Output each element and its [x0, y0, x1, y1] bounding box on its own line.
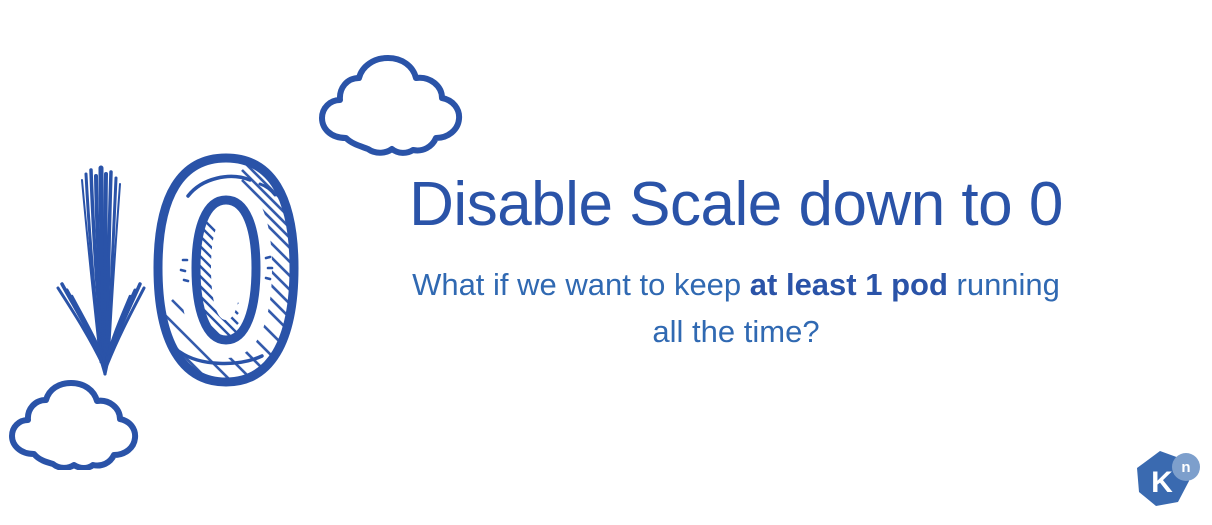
page-title: Disable Scale down to 0 [366, 172, 1106, 239]
subtitle: What if we want to keep at least 1 pod r… [366, 239, 1106, 355]
subtitle-emphasis: at least 1 pod [750, 267, 948, 302]
arrow-down-icon [52, 162, 156, 378]
subtitle-line1-before: What if we want to keep [412, 267, 750, 302]
subtitle-line1-after: running [948, 267, 1060, 302]
subtitle-line2: all the time? [652, 314, 819, 349]
slide-canvas: Disable Scale down to 0 What if we want … [0, 0, 1212, 525]
cloud-icon-top [312, 52, 464, 156]
kubernetes-learning-logo: K n [1130, 447, 1204, 519]
cloud-icon-bottom [4, 378, 142, 470]
zero-numeral-illustration [138, 148, 314, 392]
logo-letter-k: K [1151, 466, 1173, 499]
logo-letter-n: n [1181, 459, 1190, 476]
text-block: Disable Scale down to 0 What if we want … [366, 172, 1106, 355]
